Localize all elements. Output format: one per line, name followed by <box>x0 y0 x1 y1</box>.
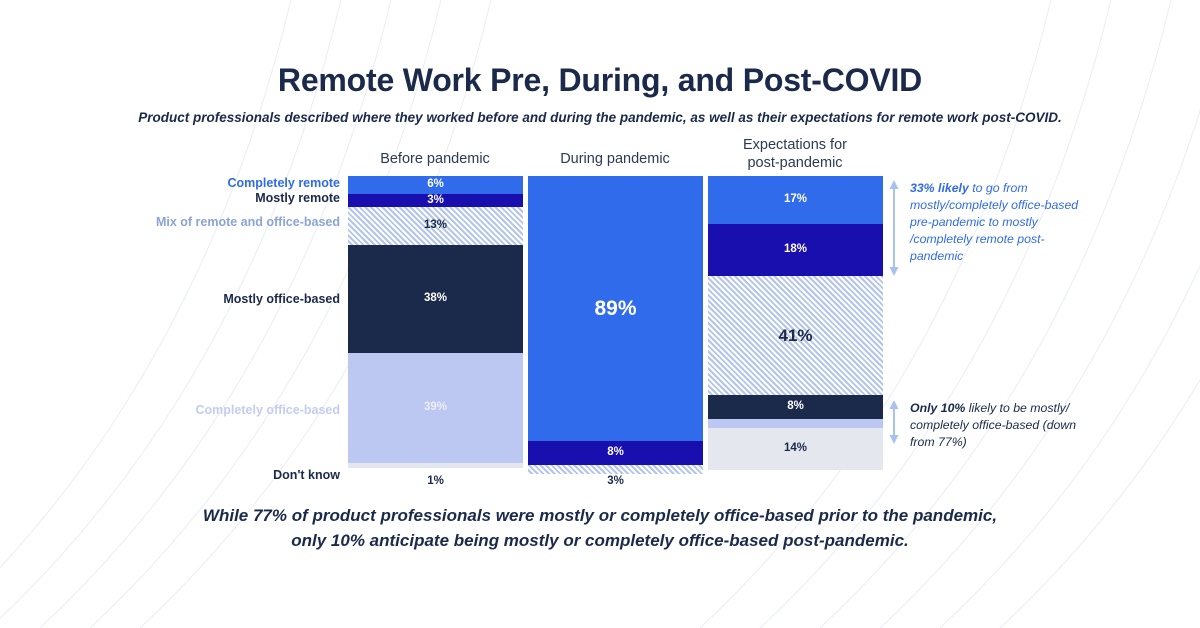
segment-before-completely-remote[interactable]: 6% <box>348 176 523 194</box>
segment-post-mix[interactable]: 41% <box>708 276 883 395</box>
category-label-dont-know: Don't know <box>40 468 340 482</box>
annotation-upper-bold: 33% likely <box>910 181 969 195</box>
segment-before-dont-know[interactable] <box>348 463 523 468</box>
segment-post-completely-remote[interactable]: 17% <box>708 176 883 224</box>
segment-before-mostly-office-based[interactable]: 38% <box>348 245 523 353</box>
page-title: Remote Work Pre, During, and Post-COVID <box>0 62 1200 99</box>
category-label-completely-remote: Completely remote <box>40 176 340 190</box>
stacked-bar-during-pandemic: 89% 8% <box>528 176 703 474</box>
column-heading-post-pandemic: Expectations for post-pandemic <box>705 136 885 172</box>
footer-line-1: While 77% of product professionals were … <box>150 504 1050 529</box>
infographic-page: Remote Work Pre, During, and Post-COVID … <box>0 0 1200 628</box>
segment-before-mix[interactable]: 13% <box>348 207 523 245</box>
segment-value: 3% <box>427 195 444 207</box>
segment-before-completely-office-based[interactable]: 39% <box>348 353 523 463</box>
column-heading-before: Before pandemic <box>345 150 525 168</box>
column-heading-post-line1: Expectations for <box>705 136 885 154</box>
segment-before-mostly-remote[interactable]: 3% <box>348 194 523 207</box>
page-subtitle: Product professionals described where th… <box>0 110 1200 125</box>
column-heading-post-line2: post-pandemic <box>705 154 885 172</box>
annotation-lower-bold: Only 10% <box>910 401 965 415</box>
annotation-lower: Only 10% likely to be mostly/ completely… <box>910 400 1095 451</box>
segment-value: 18% <box>784 244 807 256</box>
stacked-bar-post-pandemic: 17% 18% 41% 8% 14% <box>708 176 883 470</box>
segment-value: 41% <box>778 327 812 344</box>
segment-post-mostly-office-based[interactable]: 8% <box>708 395 883 419</box>
footer-line-2: only 10% anticipate being mostly or comp… <box>150 529 1050 554</box>
segment-value: 8% <box>607 447 624 459</box>
category-label-mostly-office-based: Mostly office-based <box>40 292 340 306</box>
segment-post-mostly-remote[interactable]: 18% <box>708 224 883 276</box>
category-label-mix: Mix of remote and office-based <box>40 215 340 229</box>
segment-post-dont-know[interactable]: 14% <box>708 428 883 470</box>
footer-caption: While 77% of product professionals were … <box>150 504 1050 553</box>
annotation-upper: 33% likely to go from mostly/completely … <box>910 180 1095 265</box>
segment-value: 38% <box>424 293 447 305</box>
segment-during-completely-remote[interactable]: 89% <box>528 176 703 441</box>
segment-value: 6% <box>427 179 444 191</box>
segment-value-during-mix: 3% <box>528 475 703 487</box>
segment-value: 8% <box>787 401 804 413</box>
double-arrow-icon-upper <box>888 180 900 276</box>
segment-value: 14% <box>784 443 807 455</box>
segment-value: 13% <box>424 220 447 232</box>
segment-value: 89% <box>594 298 636 319</box>
double-arrow-icon-lower <box>888 400 900 444</box>
segment-during-mostly-remote[interactable]: 8% <box>528 441 703 465</box>
segment-value-before-dont-know: 1% <box>348 475 523 487</box>
segment-post-completely-office-based[interactable] <box>708 419 883 428</box>
segment-during-mix[interactable] <box>528 465 703 474</box>
category-label-mostly-remote: Mostly remote <box>40 191 340 205</box>
segment-value: 17% <box>784 194 807 206</box>
category-label-completely-office-based: Completely office-based <box>40 403 340 417</box>
stacked-bar-before-pandemic: 6% 3% 13% 38% 39% <box>348 176 523 468</box>
segment-value: 39% <box>424 402 447 414</box>
column-heading-during: During pandemic <box>525 150 705 168</box>
